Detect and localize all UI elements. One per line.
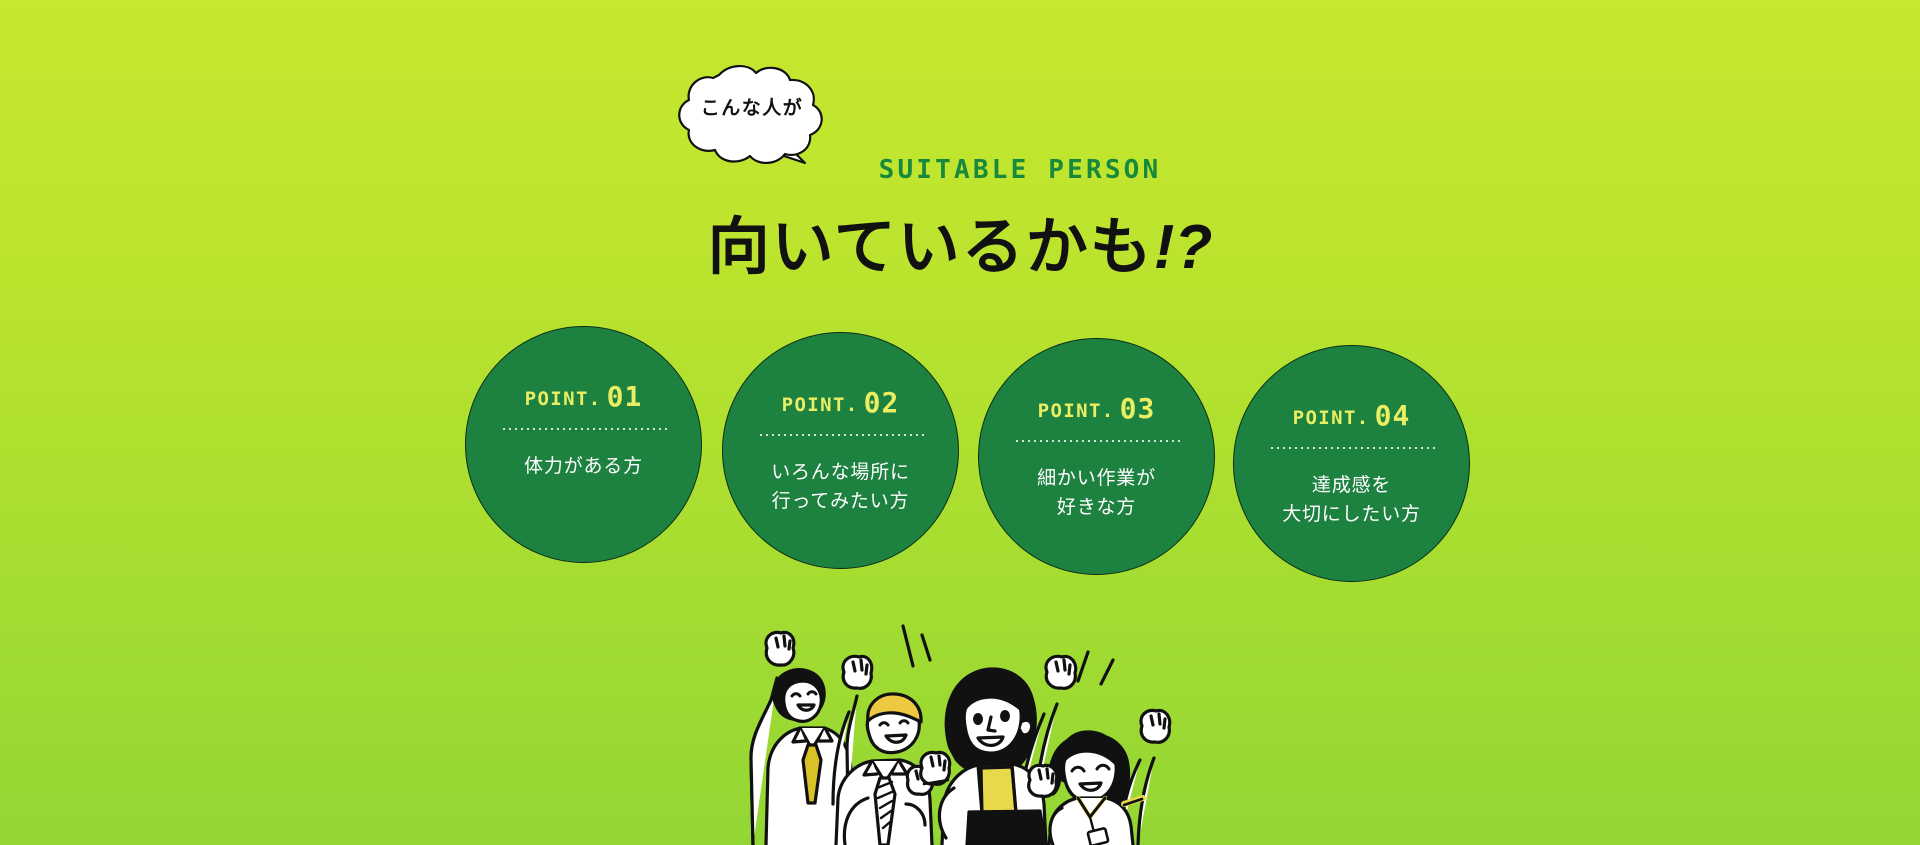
point-circle-03[interactable]: POINT. 03 細かい作業が 好きな方	[978, 338, 1215, 575]
point-word-04: POINT.	[1293, 407, 1370, 429]
cheering-people-graphic	[720, 608, 1200, 845]
point-text-line: いろんな場所に	[771, 458, 910, 487]
point-circle-01[interactable]: POINT. 01 体力がある方	[465, 326, 702, 563]
point-text-04: 達成感を 大切にしたい方	[1282, 471, 1421, 530]
point-number-04: 04	[1375, 399, 1411, 432]
yellow-top	[981, 767, 1016, 814]
point-text-03: 細かい作業が 好きな方	[1037, 464, 1156, 523]
cheering-people-illustration	[720, 608, 1200, 845]
point-divider-02	[758, 434, 924, 436]
point-divider-04	[1269, 447, 1435, 449]
point-label-03: POINT. 03	[1038, 391, 1156, 424]
point-circle-02[interactable]: POINT. 02 いろんな場所に 行ってみたい方	[722, 332, 959, 569]
id-badge	[1088, 828, 1109, 845]
point-text-line: 体力がある方	[524, 452, 643, 481]
motion-line	[922, 635, 930, 660]
black-skirt	[967, 811, 1046, 845]
point-text-line: 達成感を	[1282, 471, 1421, 500]
point-text-line: 細かい作業が	[1037, 464, 1156, 493]
point-word-01: POINT.	[525, 388, 602, 410]
point-number-03: 03	[1120, 392, 1156, 425]
point-divider-03	[1014, 440, 1180, 442]
person-2	[833, 656, 933, 845]
point-number-01: 01	[607, 380, 643, 413]
point-divider-01	[501, 428, 667, 430]
point-label-01: POINT. 01	[525, 379, 643, 412]
point-text-01: 体力がある方	[524, 452, 643, 481]
motion-line	[1078, 652, 1088, 681]
point-text-line: 好きな方	[1037, 493, 1156, 522]
motion-line	[1101, 660, 1113, 684]
point-text-02: いろんな場所に 行ってみたい方	[771, 458, 910, 517]
point-circle-04[interactable]: POINT. 04 達成感を 大切にしたい方	[1233, 345, 1470, 582]
point-label-04: POINT. 04	[1293, 398, 1411, 431]
point-text-line: 大切にしたい方	[1282, 500, 1421, 529]
point-word-02: POINT.	[782, 394, 859, 416]
point-label-02: POINT. 02	[782, 385, 900, 418]
point-number-02: 02	[864, 386, 900, 419]
point-text-line: 行ってみたい方	[771, 487, 910, 516]
point-word-03: POINT.	[1038, 400, 1115, 422]
motion-line	[903, 626, 913, 666]
